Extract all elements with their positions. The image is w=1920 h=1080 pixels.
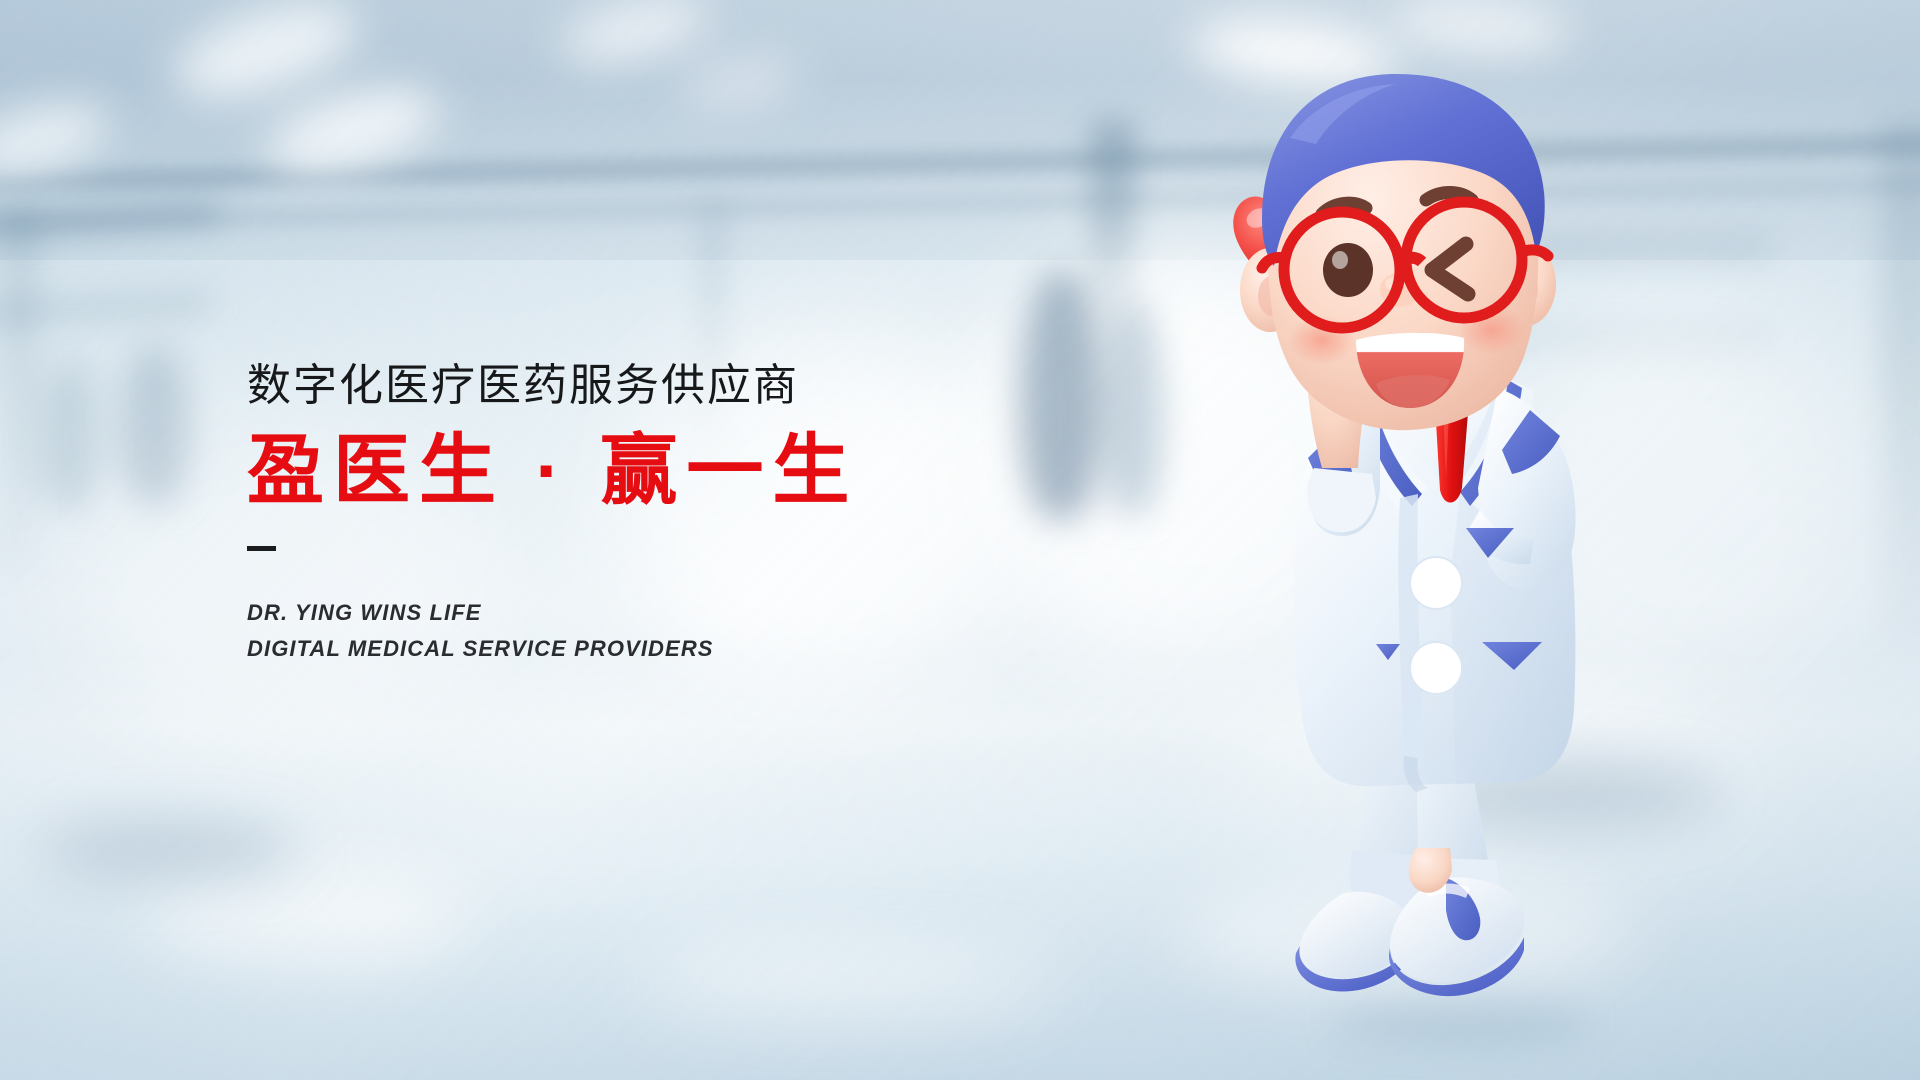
subtitle-line-1: DR. YING WINS LIFE: [247, 595, 967, 631]
mascot-head: [1262, 74, 1548, 430]
divider-rule: [247, 546, 276, 551]
hero-banner: 数字化医疗医药服务供应商 盈医生 · 赢一生 DR. YING WINS LIF…: [0, 0, 1920, 1080]
doctor-mascot: [1230, 58, 1710, 1068]
hero-copy-block: 数字化医疗医药服务供应商 盈医生 · 赢一生 DR. YING WINS LIF…: [247, 360, 967, 666]
subtitle-line-2: DIGITAL MEDICAL SERVICE PROVIDERS: [247, 631, 967, 667]
headline: 盈医生 · 赢一生: [247, 428, 967, 514]
tagline: 数字化医疗医药服务供应商: [247, 360, 967, 412]
